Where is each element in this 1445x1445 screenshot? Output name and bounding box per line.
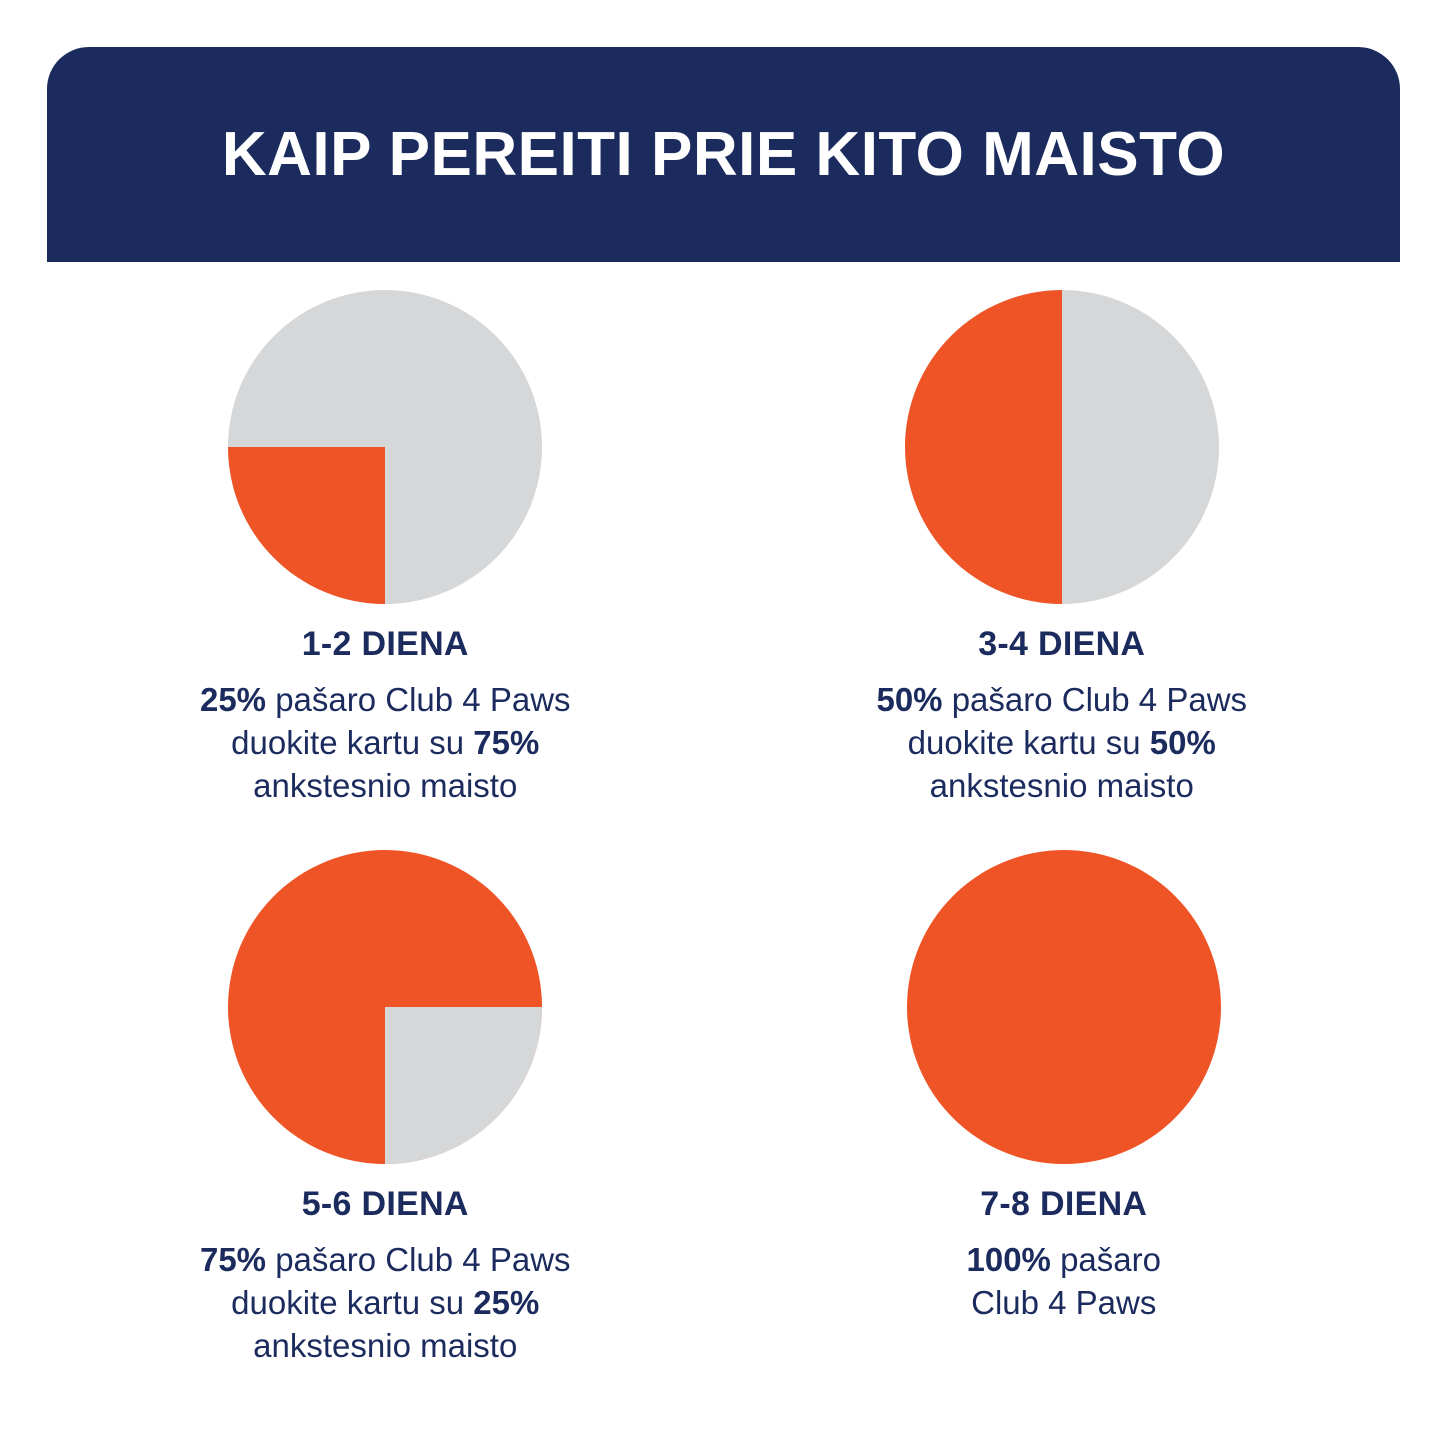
percent-old-food: 75%	[473, 724, 539, 761]
step-heading: 7-8 DIENA	[967, 1186, 1161, 1223]
step-caption-day-5-6: 5-6 DIENA 75% pašaro Club 4 Paws duokite…	[200, 1186, 571, 1368]
step-body: 100% pašaro Club 4 Paws	[967, 1239, 1161, 1325]
body-text-part-3: ankstesnio maisto	[930, 767, 1194, 804]
percent-old-food: 25%	[473, 1284, 539, 1321]
pie-slice-new-food	[228, 447, 385, 604]
pie-chart-day-1-2	[228, 290, 542, 604]
body-text-part-1: pašaro Club 4 Paws	[266, 681, 571, 718]
step-body: 75% pašaro Club 4 Paws duokite kartu su …	[200, 1239, 571, 1368]
pie-slice-new-food	[905, 290, 1062, 604]
step-card-day-1-2: 1-2 DIENA 25% pašaro Club 4 Paws duokite…	[47, 290, 724, 850]
pie-svg-day-1-2	[228, 290, 542, 604]
step-heading: 3-4 DIENA	[876, 626, 1247, 663]
body-text-part-2: duokite kartu su	[231, 1284, 473, 1321]
body-text-part-1: pašaro Club 4 Paws	[943, 681, 1248, 718]
page-title: KAIP PEREITI PRIE KITO MAISTO	[222, 124, 1225, 186]
header-banner: KAIP PEREITI PRIE KITO MAISTO	[47, 47, 1400, 262]
infographic-root: KAIP PEREITI PRIE KITO MAISTO 1-2 DIENA …	[0, 0, 1445, 1445]
pie-slice-new-food	[907, 850, 1221, 1164]
body-text-part-1: pašaro Club 4 Paws	[266, 1241, 571, 1278]
percent-new-food: 100%	[967, 1241, 1051, 1278]
body-text-part-3: ankstesnio maisto	[253, 1327, 517, 1364]
steps-grid: 1-2 DIENA 25% pašaro Club 4 Paws duokite…	[47, 290, 1400, 1410]
pie-svg-day-7-8	[907, 850, 1221, 1164]
step-body: 25% pašaro Club 4 Paws duokite kartu su …	[200, 679, 571, 808]
pie-svg-day-5-6	[228, 850, 542, 1164]
body-text-part-3: ankstesnio maisto	[253, 767, 517, 804]
body-text-part-1: pašaro	[1051, 1241, 1161, 1278]
pie-svg-day-3-4	[905, 290, 1219, 604]
percent-new-food: 50%	[876, 681, 942, 718]
pie-chart-day-7-8	[907, 850, 1221, 1164]
step-caption-day-3-4: 3-4 DIENA 50% pašaro Club 4 Paws duokite…	[876, 626, 1247, 808]
pie-chart-day-5-6	[228, 850, 542, 1164]
step-card-day-7-8: 7-8 DIENA 100% pašaro Club 4 Paws	[724, 850, 1401, 1410]
body-text-part-2: Club 4 Paws	[971, 1284, 1156, 1321]
percent-old-food: 50%	[1150, 724, 1216, 761]
step-body: 50% pašaro Club 4 Paws duokite kartu su …	[876, 679, 1247, 808]
percent-new-food: 25%	[200, 681, 266, 718]
step-caption-day-1-2: 1-2 DIENA 25% pašaro Club 4 Paws duokite…	[200, 626, 571, 808]
step-card-day-3-4: 3-4 DIENA 50% pašaro Club 4 Paws duokite…	[724, 290, 1401, 850]
pie-chart-day-3-4	[905, 290, 1219, 604]
step-caption-day-7-8: 7-8 DIENA 100% pašaro Club 4 Paws	[967, 1186, 1161, 1325]
step-card-day-5-6: 5-6 DIENA 75% pašaro Club 4 Paws duokite…	[47, 850, 724, 1410]
body-text-part-2: duokite kartu su	[908, 724, 1150, 761]
step-heading: 1-2 DIENA	[200, 626, 571, 663]
percent-new-food: 75%	[200, 1241, 266, 1278]
pie-slice-previous-food	[385, 1007, 542, 1164]
step-heading: 5-6 DIENA	[200, 1186, 571, 1223]
body-text-part-2: duokite kartu su	[231, 724, 473, 761]
